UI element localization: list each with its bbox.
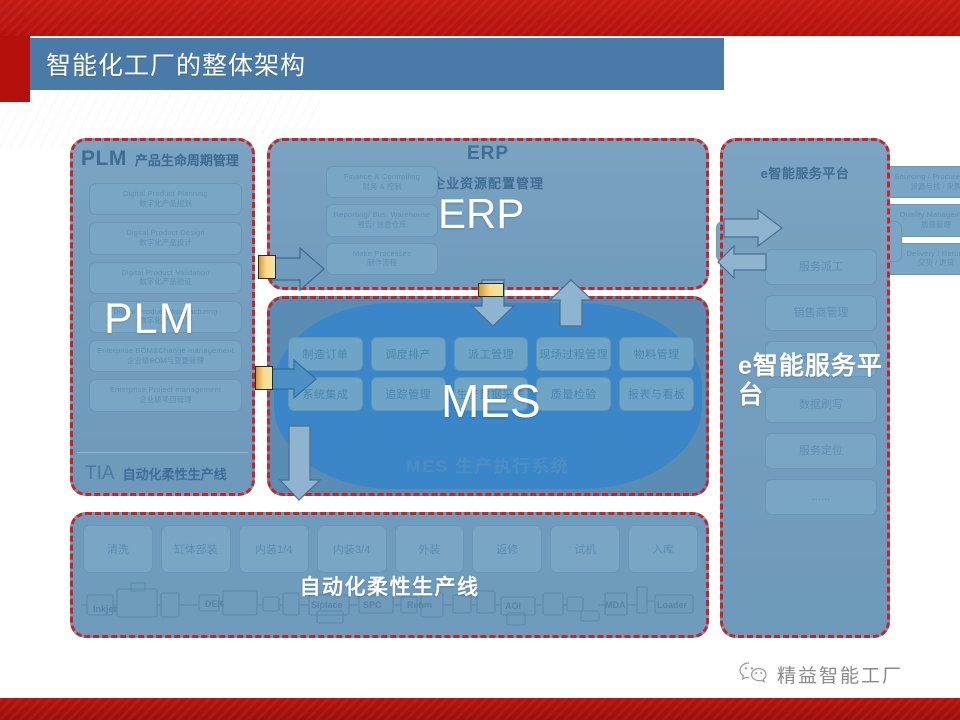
mes-item[interactable]: 报表与看板 [619,377,694,411]
production-line-caption: 自动化柔性生产线 [73,571,706,601]
mes-item[interactable]: 调度排产 [371,337,446,371]
arrow-plm-to-erp [270,246,326,292]
plm-item-cn: 数字化产品制造 [94,317,237,326]
plm-divider [77,452,248,453]
watermark: 精益智能工厂 [738,660,903,689]
erp-right-item-cn: 货源与找 / 采购 [885,183,960,192]
erp-left-item-cn: 制作流程 [331,259,433,268]
production-line-panel[interactable]: 清洗缸体部装内装1/4内装3/4外装返修试机入库 自动化柔性生产线 [70,512,709,638]
mes-item[interactable]: 质量检验 [536,377,611,411]
eservice-item[interactable]: 数据刷写 [765,387,877,423]
plm-item-cn: 数字化产品设计 [94,239,237,248]
arrow-mes-to-erp [548,278,594,328]
svg-text:Loader: Loader [657,600,688,610]
wechat-icon [738,660,768,689]
eservice-title-label: e智能服务平台 [723,163,887,182]
production-station[interactable]: 返修 [472,525,542,573]
eservice-item[interactable]: 远程诊断 [765,341,877,377]
erp-left-item[interactable]: Make Processes制作流程 [326,243,438,275]
plm-abbr-label: PLM [81,147,127,171]
erp-left-item-en: Make Processes [331,250,433,259]
plm-item-en: Enterprise Project management [94,386,237,395]
connector-plm-erp [258,255,276,279]
eservice-item[interactable]: 服务派工 [765,249,877,285]
eservice-item[interactable]: 销售商管理 [765,295,877,331]
plm-item[interactable]: Enterprise Project management企业级项目管理 [89,379,242,411]
plm-header: PLM 产品生命周期管理 [73,147,252,171]
arrow-erp-to-eservice [722,208,784,248]
arrow-plm-to-mes [268,358,318,400]
svg-text:Inkjet: Inkjet [93,604,117,614]
svg-text:Rehm: Rehm [407,600,432,610]
svg-text:SPC: SPC [363,600,382,610]
mes-item-grid: 制造订单调度排产派工管理现场过程管理物料管理系统集成追踪管理生产数据采集质量检验… [288,337,694,411]
erp-left-item-cn: 报告/ 信息仓库 [331,221,433,230]
production-station[interactable]: 外装 [395,525,465,573]
mes-item[interactable]: 物料管理 [619,337,694,371]
watermark-text: 精益智能工厂 [777,661,903,688]
mes-item[interactable]: 现场过程管理 [536,337,611,371]
production-station[interactable]: 入库 [628,525,698,573]
plm-item-cn: 企业级项目管理 [94,396,237,405]
tia-abbr-label: TIA [85,463,115,485]
eservice-item-list: 服务派工销售商管理远程诊断数据刷写服务定位...... [765,249,877,525]
erp-left-item-en: Finance & Controlling [331,173,433,182]
production-station-row: 清洗缸体部装内装1/4内装3/4外装返修试机入库 [83,525,698,573]
top-red-band [0,0,960,36]
erp-title-label: ERP [270,143,706,165]
erp-left-column: Finance & Controlling财务 & 控制Reporting/ B… [326,166,438,281]
plm-item[interactable]: Enterprise BOM&Change management企业级BOM与变… [89,340,242,372]
erp-left-item-en: Reporting/ Bus. Warehouse [331,211,433,220]
connector-erp-mes [478,283,504,297]
eservice-item[interactable]: 服务定位 [765,433,877,469]
production-station[interactable]: 试机 [550,525,620,573]
svg-text:Siplace: Siplace [311,600,343,610]
plm-item[interactable]: Digital Product Planning数字化产品规划 [89,183,242,215]
plm-item[interactable]: Digital Product Manufacturing数字化产品制造 [89,301,242,333]
plm-item[interactable]: Digital Product Design数字化产品设计 [89,222,242,254]
plm-item[interactable]: Digital Product Validation数字化产品验证 [89,262,242,294]
plm-panel[interactable]: PLM 产品生命周期管理 Digital Product Planning数字化… [70,138,255,496]
plm-item-en: Digital Product Design [94,229,237,238]
plm-footer: TIA 自动化柔性生产线 [85,463,227,485]
page-title: 智能化工厂的整体架构 [30,46,306,82]
production-station[interactable]: 内装1/4 [239,525,309,573]
slide-title-bar: 智能化工厂的整体架构 [30,38,724,90]
erp-right-item-en: Quality Management [885,211,960,220]
erp-panel[interactable]: ERP 企业资源配置管理 Finance & Controlling财务 & 控… [267,138,709,290]
eservice-item[interactable]: ...... [765,479,877,515]
production-station[interactable]: 内装3/4 [317,525,387,573]
connector-plm-mes [255,366,273,390]
plm-item-cn: 数字化产品规划 [94,200,237,209]
slide-root: 智能化工厂的整体架构 PLM 产品生命周期管理 Digital Product … [0,0,960,720]
svg-text:MDA: MDA [605,600,626,610]
mes-item[interactable]: 追踪管理 [371,377,446,411]
erp-left-item[interactable]: Finance & Controlling财务 & 控制 [326,166,438,198]
plm-cn-label: 产品生命周期管理 [135,150,239,169]
erp-left-item[interactable]: Reporting/ Bus. Warehouse报告/ 信息仓库 [326,204,438,236]
erp-right-item-en: Sourcing / Procurement [885,173,960,182]
arrow-eservice-to-erp [716,244,768,280]
plm-item-cn: 企业级BOM与变更管理 [94,357,237,366]
production-station[interactable]: 缸体部装 [161,525,231,573]
erp-right-item[interactable]: Sourcing / Procurement货源与找 / 采购 [880,166,960,198]
mes-item[interactable]: 派工管理 [454,337,529,371]
plm-item-en: Enterprise BOM&Change management [94,347,237,356]
plm-item-en: Digital Product Validation [94,269,237,278]
svg-text:AOI: AOI [505,601,521,611]
plm-item-cn: 数字化产品验证 [94,278,237,287]
mes-footer-label: MES 生产执行系统 [270,452,706,477]
plm-item-en: Digital Product Planning [94,190,237,199]
production-station[interactable]: 清洗 [83,525,153,573]
tia-cn-label: 自动化柔性生产线 [123,464,227,483]
bottom-red-band [0,698,960,720]
erp-left-item-cn: 财务 & 控制 [331,183,433,192]
arrow-mes-to-line [278,424,322,502]
plm-item-list: Digital Product Planning数字化产品规划Digital P… [89,183,242,419]
mes-item[interactable]: 生产数据采集 [454,377,529,411]
